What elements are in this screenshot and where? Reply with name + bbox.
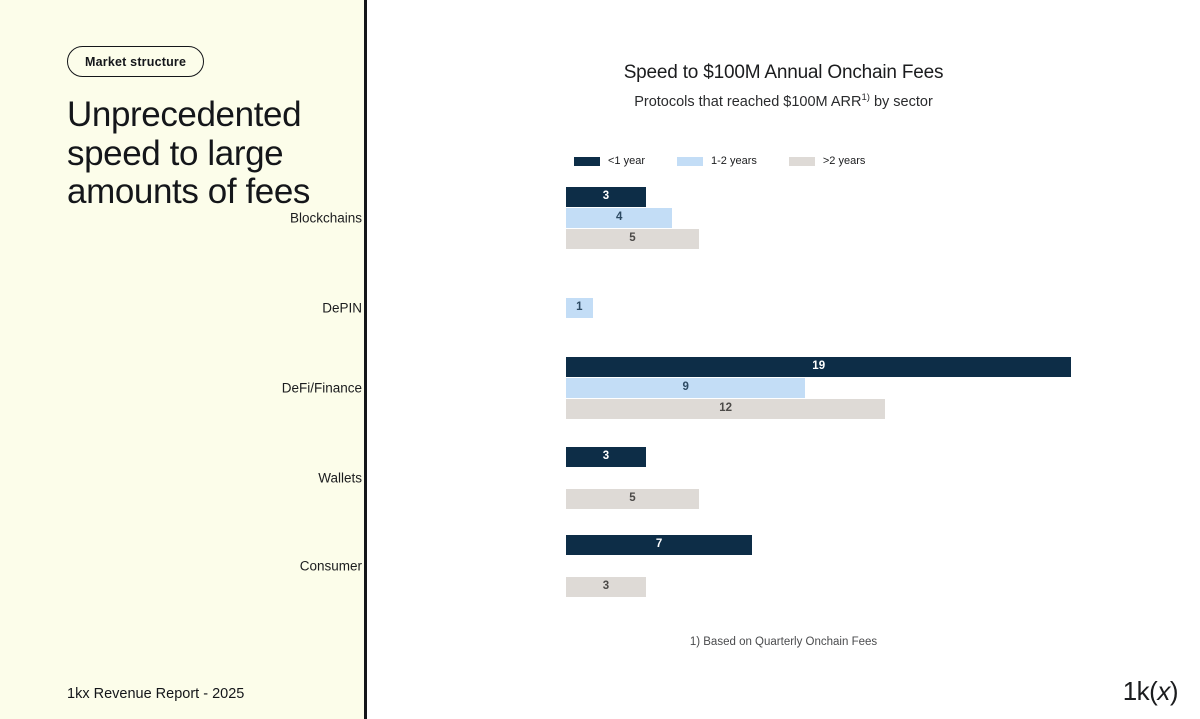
bar-stack: 19912 bbox=[566, 356, 1200, 420]
chart-title: Speed to $100M Annual Onchain Fees bbox=[367, 62, 1200, 84]
chart-subtitle-suffix: by sector bbox=[870, 94, 933, 110]
eyebrow-label: Market structure bbox=[85, 55, 186, 69]
bar-value-label: 5 bbox=[629, 493, 635, 505]
bar-group: Blockchains345 bbox=[367, 186, 1200, 250]
eyebrow-badge: Market structure bbox=[67, 46, 204, 77]
legend-label: <1 year bbox=[608, 155, 645, 167]
bar-segment[interactable]: 19 bbox=[566, 357, 1071, 377]
logo-suffix: ) bbox=[1170, 676, 1178, 706]
legend-swatch-icon bbox=[677, 157, 703, 166]
bar-group: Consumer73 bbox=[367, 534, 1200, 598]
brand-logo: 1k(x) bbox=[1123, 676, 1178, 707]
legend-label: 1-2 years bbox=[711, 155, 757, 167]
left-panel: Market structure Unprecedented speed to … bbox=[0, 0, 367, 719]
page-title: Unprecedented speed to large amounts of … bbox=[67, 96, 347, 212]
bar-segment[interactable]: 5 bbox=[566, 489, 699, 509]
bar-value-label: 19 bbox=[812, 361, 825, 373]
category-label: Blockchains bbox=[290, 211, 366, 226]
bar-value-label: 3 bbox=[603, 451, 609, 463]
bar-segment[interactable]: 4 bbox=[566, 208, 672, 228]
bar-value-label: 5 bbox=[629, 233, 635, 245]
bar-segment[interactable]: 1 bbox=[566, 298, 593, 318]
bar-value-label: 4 bbox=[616, 212, 622, 224]
bar-value-label: 7 bbox=[656, 539, 662, 551]
chart-panel: Speed to $100M Annual Onchain Fees Proto… bbox=[367, 0, 1200, 719]
watermark bbox=[395, 2, 495, 32]
logo-italic-x: x bbox=[1157, 676, 1170, 706]
bar-segment[interactable]: 5 bbox=[566, 229, 699, 249]
chart-subtitle-prefix: Protocols that reached $100M ARR bbox=[634, 94, 861, 110]
category-label: Consumer bbox=[300, 559, 366, 574]
bar-stack: 345 bbox=[566, 186, 1200, 250]
chart-legend: <1 year1-2 years>2 years bbox=[574, 155, 897, 167]
legend-label: >2 years bbox=[823, 155, 866, 167]
legend-item[interactable]: 1-2 years bbox=[677, 155, 757, 167]
bar-stack: 73 bbox=[566, 534, 1200, 598]
footer-caption: 1kx Revenue Report - 2025 bbox=[67, 686, 244, 702]
bar-segment[interactable]: 9 bbox=[566, 378, 805, 398]
legend-item[interactable]: >2 years bbox=[789, 155, 866, 167]
bar-segment[interactable]: 7 bbox=[566, 535, 752, 555]
bar-value-label: 3 bbox=[603, 191, 609, 203]
category-label: DeFi/Finance bbox=[282, 381, 366, 396]
category-label: Wallets bbox=[318, 471, 366, 486]
bar-group: DePIN1 bbox=[367, 276, 1200, 340]
bar-segment[interactable]: 3 bbox=[566, 577, 646, 597]
category-label: DePIN bbox=[322, 301, 366, 316]
logo-prefix: 1k( bbox=[1123, 676, 1158, 706]
bar-stack: 35 bbox=[566, 446, 1200, 510]
bar-value-label: 1 bbox=[576, 302, 582, 314]
bar-value-label: 9 bbox=[682, 382, 688, 394]
bar-value-label: 12 bbox=[719, 403, 732, 415]
footnote-marker: 1) bbox=[861, 92, 869, 103]
slide: Market structure Unprecedented speed to … bbox=[0, 0, 1200, 719]
bar-stack: 1 bbox=[566, 276, 1200, 340]
bar-segment[interactable]: 12 bbox=[566, 399, 885, 419]
bar-segment[interactable]: 3 bbox=[566, 187, 646, 207]
legend-item[interactable]: <1 year bbox=[574, 155, 645, 167]
legend-swatch-icon bbox=[789, 157, 815, 166]
bar-segment[interactable]: 3 bbox=[566, 447, 646, 467]
chart-subtitle: Protocols that reached $100M ARR1) by se… bbox=[367, 94, 1200, 110]
bar-group: DeFi/Finance19912 bbox=[367, 356, 1200, 420]
chart-footnote: 1) Based on Quarterly Onchain Fees bbox=[367, 636, 1200, 648]
bar-value-label: 3 bbox=[603, 581, 609, 593]
legend-swatch-icon bbox=[574, 157, 600, 166]
bar-group: Wallets35 bbox=[367, 446, 1200, 510]
